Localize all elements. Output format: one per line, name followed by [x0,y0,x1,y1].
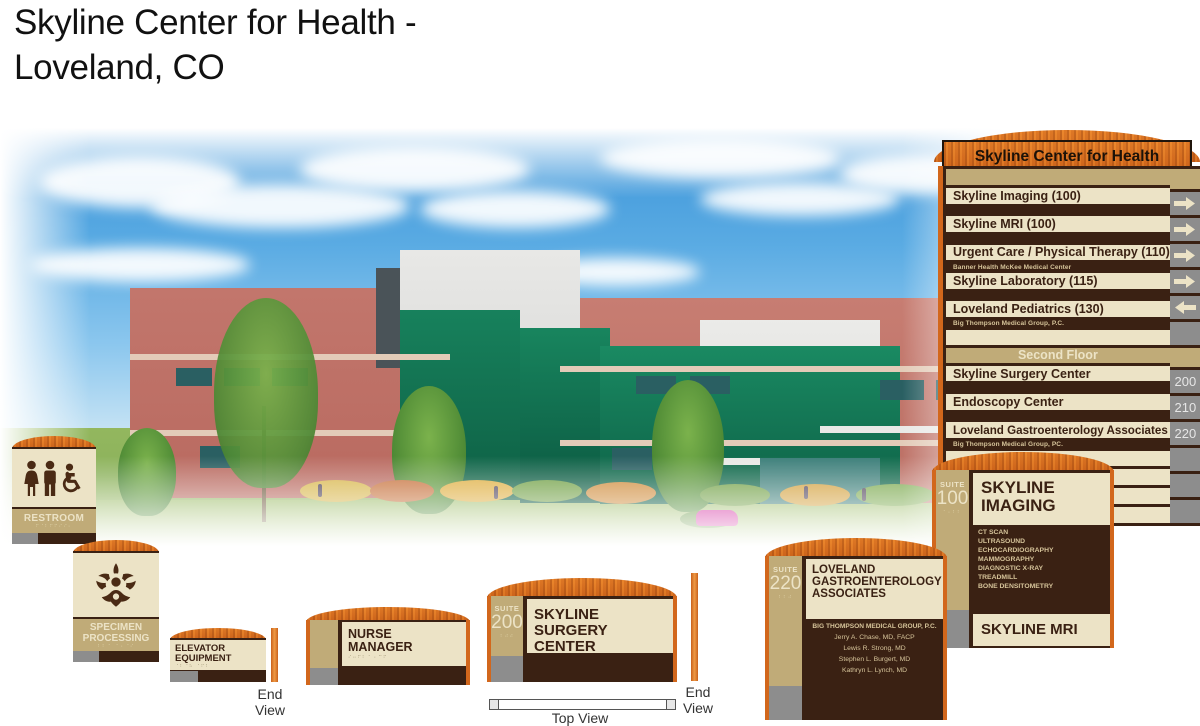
skyline-imaging-sign[interactable]: SUITE 100 ⠂⠄⠆⠇ SKYLINE IMAGING CT SCAN U… [932,452,1114,648]
gastro-title-line2: GASTROENTEROLOGY [812,576,943,588]
gastro-provider-item: Lewis R. Strong, MD [806,643,943,654]
directory-row-sub [946,292,1170,300]
specimen-label-panel: SPECIMEN PROCESSING ⠎⠏⠑⠉⠊⠍⠑⠝ [73,619,159,651]
suite-number: 220 [769,574,802,594]
arrow-blank-cell [1170,474,1200,497]
restroom-pictogram-panel [12,449,96,507]
specimen-label-line1: SPECIMEN [73,622,159,633]
directory-arrow-column: 200 210 220 [1170,166,1200,526]
elevator-title-panel: ELEVATOR EQUIPMENT ⠑⠇⠑⠧ ⠑⠟⠏ [170,640,266,670]
specimen-gray-tab [73,651,99,662]
directory-header-label: Skyline Center for Health [975,148,1159,166]
gastro-provider-item: Kathryn L. Lynch, MD [806,665,943,676]
gastroenterology-sign[interactable]: SUITE 220 ⠆⠆⠴ LOVELAND GASTROENTEROLOGY … [765,538,947,720]
gastro-group-label: BIG THOMPSON MEDICAL GROUP, P.C. [806,622,943,632]
directory-row-label: Loveland Gastroenterology Associates [953,424,1168,437]
right-arrow-icon[interactable] [1170,270,1200,293]
directory-row[interactable]: Loveland Gastroenterology Associates [946,422,1170,438]
surgery-title-line1: SKYLINE [534,607,673,623]
sign-wood-cap [932,452,1114,472]
left-arrow-icon[interactable] [1170,296,1200,319]
sign-wood-cap [487,578,677,598]
elevator-sign-body: ELEVATOR EQUIPMENT ⠑⠇⠑⠧ ⠑⠟⠏ [170,638,266,682]
surgery-title-panel: SKYLINE SURGERY CENTER [527,599,673,653]
shrub [370,480,434,502]
directory-row[interactable]: Skyline Imaging (100) [946,188,1170,204]
end-view-caption-left: End View [240,686,300,718]
directory-floor-divider: Second Floor [946,348,1170,362]
right-arrow-icon[interactable] [1170,244,1200,267]
directory-row-label: Skyline Surgery Center [953,367,1091,381]
surgery-center-sign[interactable]: SUITE 200 ⠆⠴⠴ SKYLINE SURGERY CENTER [487,578,677,682]
shrub [856,484,934,506]
arrow-blank-cell [1170,500,1200,523]
imaging-service-item: MAMMOGRAPHY [973,555,1110,564]
imaging-title-panel: SKYLINE IMAGING [973,473,1110,525]
end-view-caption-right: End View [668,684,728,716]
directory-row-sub [946,413,1170,421]
cloud [600,138,840,178]
gastro-sign-body: SUITE 220 ⠆⠆⠴ LOVELAND GASTROENTEROLOGY … [765,556,947,720]
curtain-wall-c [520,328,610,503]
wheelchair-icon [60,463,86,493]
restroom-sign[interactable]: RESTROOM ⠗⠑⠎⠞⠗⠕⠕⠍ [12,436,96,544]
gastro-provider-item: Stephen L. Burgert, MD [806,654,943,665]
person [862,488,866,501]
right-arrow-icon[interactable] [1170,218,1200,241]
imaging-service-item: BONE DENSITOMETRY [973,582,1110,591]
cloud [150,184,410,228]
restroom-label: RESTROOM [12,513,96,524]
nurse-title-panel: NURSE MANAGER ⠝⠥⠗⠎⠑ ⠍⠛⠗ [342,622,466,666]
gastro-provider-list: BIG THOMPSON MEDICAL GROUP, P.C. Jerry A… [806,622,943,676]
surgery-gray-tab [491,656,523,682]
imaging-service-item: TREADMILL [973,573,1110,582]
directory-row-label: Loveland Pediatrics (130) [953,302,1104,316]
directory-row-label: Urgent Care / Physical Therapy (110) [953,245,1170,259]
imaging-sign-body: SUITE 100 ⠂⠄⠆⠇ SKYLINE IMAGING CT SCAN U… [932,470,1114,648]
imaging-title-line1: SKYLINE [981,479,1110,497]
suite-number: 200 [491,613,523,633]
page-title: Skyline Center for Health - Loveland, CO [14,0,554,90]
elevator-braille: ⠑⠇⠑⠧ ⠑⠟⠏ [175,664,266,669]
directory-row[interactable]: Skyline Laboratory (115) [946,273,1170,289]
suite-number: 210 [1175,400,1197,415]
suite-number: 220 [1175,426,1197,441]
top-view-bar [496,699,670,710]
window [176,368,212,386]
specimen-pictogram-panel [73,553,159,617]
nurse-sign-body: NURSE MANAGER ⠝⠥⠗⠎⠑ ⠍⠛⠗ [306,620,470,685]
directory-top-blank [946,169,1170,185]
end-view-bar-right [691,573,698,681]
arrow-top-blank [1170,169,1200,189]
person [494,486,498,499]
tree [214,298,318,488]
suite-number-cell: 220 [1170,422,1200,445]
man-icon [42,460,58,496]
shrub [440,480,514,502]
elevator-gray-tab [170,671,198,682]
directory-row[interactable]: Urgent Care / Physical Therapy (110) [946,245,1170,261]
elevator-equipment-sign[interactable]: ELEVATOR EQUIPMENT ⠑⠇⠑⠧ ⠑⠟⠏ [170,628,266,682]
imaging-service-item: CT SCAN [973,528,1110,537]
suite-number-cell: 200 [1170,370,1200,393]
specimen-processing-sign[interactable]: SPECIMEN PROCESSING ⠎⠏⠑⠉⠊⠍⠑⠝ [73,540,159,662]
arrow-floor-divider-blank [1170,348,1200,366]
restroom-sign-body: RESTROOM ⠗⠑⠎⠞⠗⠕⠕⠍ [12,447,96,544]
building-photo [0,128,1012,546]
top-view-end-right [666,699,676,710]
sign-wood-cap [765,538,947,558]
gastro-title-line3: ASSOCIATES [812,588,943,600]
shrub [700,484,770,506]
directory-row-sub [946,207,1170,215]
directory-row-label: Skyline Imaging (100) [953,189,1081,203]
directory-row-label: Skyline MRI (100) [953,217,1056,231]
directory-row-sub [946,384,1170,392]
nurse-gray-tab [310,668,338,685]
woman-icon [23,460,40,496]
imaging-service-list: CT SCAN ULTRASOUND ECHOCARDIOGRAPHY MAMM… [973,528,1110,591]
parked-car [696,510,738,526]
imaging-service-item: ECHOCARDIOGRAPHY [973,546,1110,555]
arrow-blank-cell [1170,322,1200,345]
directory-row-sub: Big Thompson Medical Group, P.C. [946,320,1170,328]
shrub [586,482,656,504]
shrub [780,484,850,506]
specimen-label-line2: PROCESSING [73,633,159,644]
directory-row-label: Endoscopy Center [953,395,1063,409]
window [612,448,652,470]
right-arrow-icon[interactable] [1170,192,1200,215]
suite-number: 200 [1175,374,1197,389]
nurse-braille: ⠝⠥⠗⠎⠑ ⠍⠛⠗ [348,655,466,660]
directory-row[interactable]: Endoscopy Center [946,394,1170,410]
arrow-blank-cell [1170,448,1200,471]
restroom-gray-tab [12,533,38,544]
restroom-braille: ⠗⠑⠎⠞⠗⠕⠕⠍ [12,524,96,529]
cloud [30,248,250,282]
directory-row[interactable]: Skyline MRI (100) [946,216,1170,232]
nurse-manager-sign[interactable]: NURSE MANAGER ⠝⠥⠗⠎⠑ ⠍⠛⠗ [306,607,470,685]
imaging-service-item: DIAGNOSTIC X-RAY [973,564,1110,573]
imaging-title-line2: IMAGING [981,497,1110,515]
specimen-sign-body: SPECIMEN PROCESSING ⠎⠏⠑⠉⠊⠍⠑⠝ [73,551,159,662]
elevator-title-line2: EQUIPMENT [175,654,266,664]
imaging-footer-panel: SKYLINE MRI [973,614,1110,646]
top-view-end-left [489,699,499,710]
nurse-title-line2: MANAGER [348,641,466,654]
suite-number-cell: 210 [1170,396,1200,419]
person [804,486,808,499]
shrub [512,480,582,502]
directory-row[interactable]: Loveland Pediatrics (130) [946,301,1170,317]
shrub [300,480,372,502]
specimen-braille: ⠎⠏⠑⠉⠊⠍⠑⠝ [73,644,159,649]
directory-row-sub [946,235,1170,243]
person [318,484,322,497]
surgery-sign-body: SUITE 200 ⠆⠴⠴ SKYLINE SURGERY CENTER [487,596,677,682]
gastro-title-line1: LOVELAND [812,564,943,576]
surgery-title-line2: SURGERY CENTER [534,623,673,655]
restroom-label-panel: RESTROOM ⠗⠑⠎⠞⠗⠕⠕⠍ [12,509,96,533]
directory-blank-row [946,330,1170,346]
biohazard-icon [92,561,140,609]
tree [118,428,176,516]
directory-row-sub: Big Thompson Medical Group, PC. [946,441,1170,449]
directory-row[interactable]: Skyline Surgery Center [946,366,1170,382]
directory-row-label: Skyline Laboratory (115) [953,274,1098,288]
directory-floor-label: Second Floor [1018,348,1098,362]
imaging-service-item: ULTRASOUND [973,537,1110,546]
end-view-bar-left [271,628,278,682]
directory-row-sub: Banner Health McKee Medical Center [946,263,1170,271]
gastro-gray-tab [769,686,802,720]
gastro-provider-item: Jerry A. Chase, MD, FACP [806,632,943,643]
imaging-footer-label: SKYLINE MRI [981,622,1078,638]
cloud [300,146,530,192]
cloud [420,190,610,228]
gastro-title-panel: LOVELAND GASTROENTEROLOGY ASSOCIATES [806,559,943,619]
window [880,380,924,400]
suite-number: 100 [936,489,969,509]
